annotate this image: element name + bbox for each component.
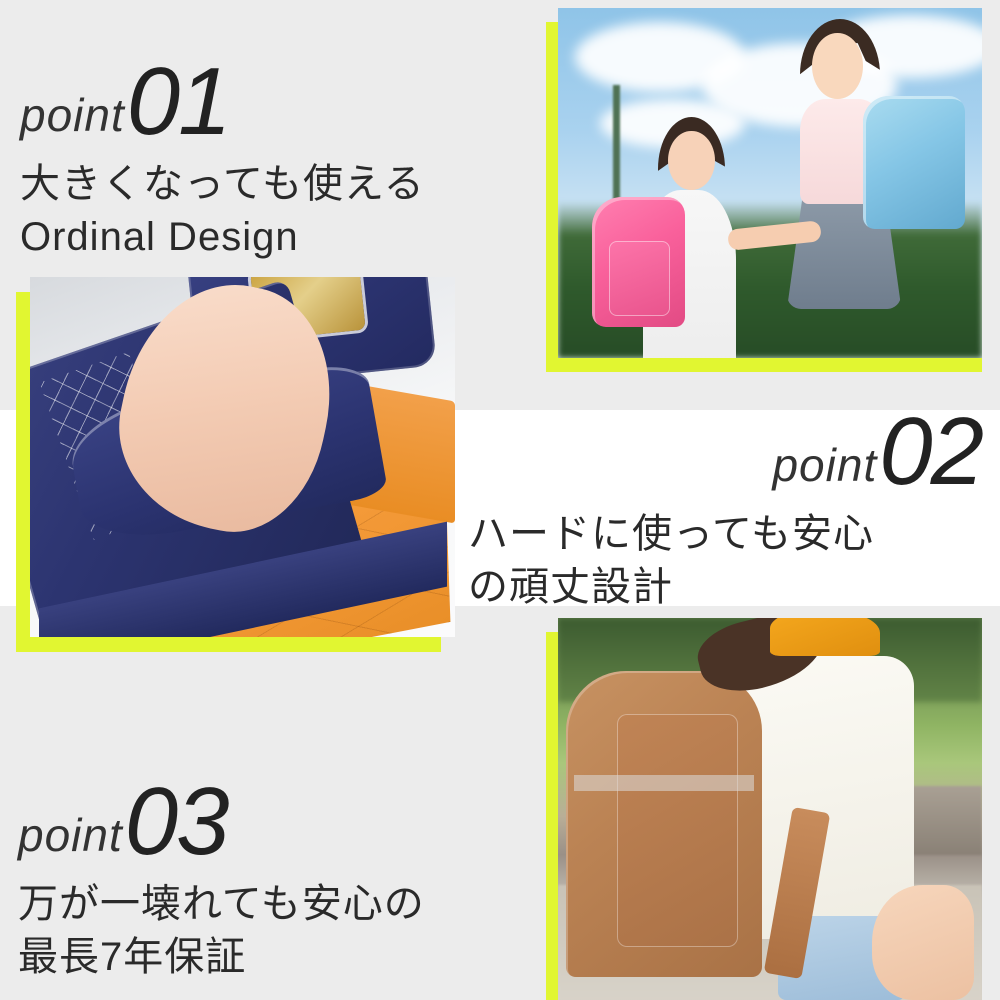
point-01-heading: point 01 bbox=[20, 48, 425, 144]
point-03-text-block: point 03 万が一壊れても安心の 最長7年保証 bbox=[18, 768, 425, 984]
point-02-label: point bbox=[772, 442, 877, 488]
point-03-photo bbox=[558, 618, 982, 1000]
point-02-number: 02 bbox=[879, 404, 982, 500]
point-01-label: point bbox=[20, 92, 125, 138]
point-01-description: 大きくなっても使える Ordinal Design bbox=[20, 158, 425, 264]
point-01-number: 01 bbox=[127, 54, 230, 150]
point-01-photo bbox=[30, 277, 455, 637]
point-02-photo bbox=[558, 8, 982, 358]
point-03-heading: point 03 bbox=[18, 768, 425, 864]
point-02-heading: point 02 bbox=[468, 398, 982, 494]
point-03-description: 万が一壊れても安心の 最長7年保証 bbox=[18, 878, 425, 984]
point-03-label: point bbox=[18, 812, 123, 858]
point-02-text-block: point 02 ハードに使っても安心 の頑丈設計 bbox=[468, 398, 982, 614]
promo-page: point 01 大きくなっても使える Ordinal Design bbox=[0, 0, 1000, 1000]
point-01-text-block: point 01 大きくなっても使える Ordinal Design bbox=[20, 48, 425, 264]
point-02-description: ハードに使っても安心 の頑丈設計 bbox=[468, 508, 982, 614]
point-03-number: 03 bbox=[125, 774, 228, 870]
